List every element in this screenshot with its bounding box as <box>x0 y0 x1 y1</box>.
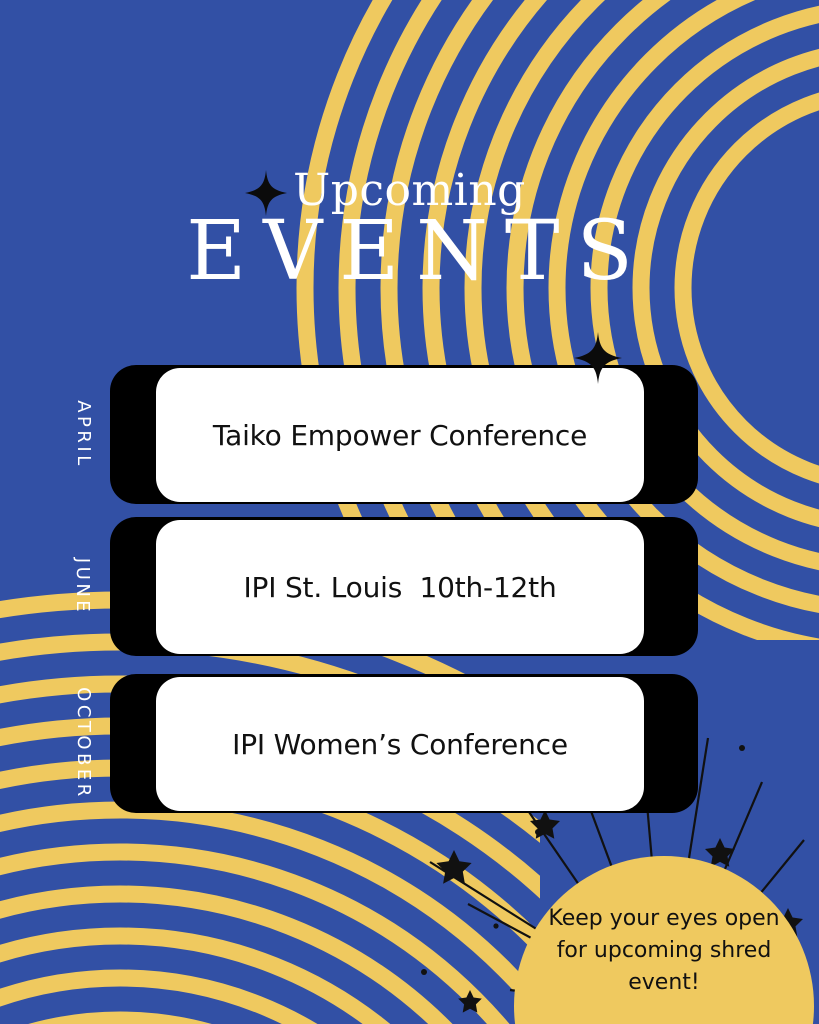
event-card-face[interactable]: IPI St. Louis 10th-12th <box>156 520 644 654</box>
page-title: Upcoming EVENTS <box>0 168 819 293</box>
event-month-label: OCTOBER <box>73 687 94 800</box>
event-card-face[interactable]: IPI Women’s Conference <box>156 677 644 811</box>
event-card-month: JUNE <box>56 517 110 656</box>
event-title: IPI St. Louis 10th-12th <box>231 571 568 604</box>
title-main: EVENTS <box>0 210 819 294</box>
event-card-face[interactable]: Taiko Empower Conference <box>156 368 644 502</box>
event-month-label: JUNE <box>73 558 94 615</box>
event-card-month: APRIL <box>56 365 110 504</box>
callout-line-3: event! <box>514 967 814 999</box>
event-month-label: APRIL <box>73 400 94 469</box>
callout-text: Keep your eyes open for upcoming shred e… <box>514 903 814 999</box>
callout-line-1: Keep your eyes open <box>514 903 814 935</box>
event-title: Taiko Empower Conference <box>201 419 599 452</box>
callout-line-2: for upcoming shred <box>514 935 814 967</box>
event-title: IPI Women’s Conference <box>220 728 580 761</box>
poster-canvas: Keep your eyes open for upcoming shred e… <box>0 0 819 1024</box>
event-card-month: OCTOBER <box>56 674 110 813</box>
